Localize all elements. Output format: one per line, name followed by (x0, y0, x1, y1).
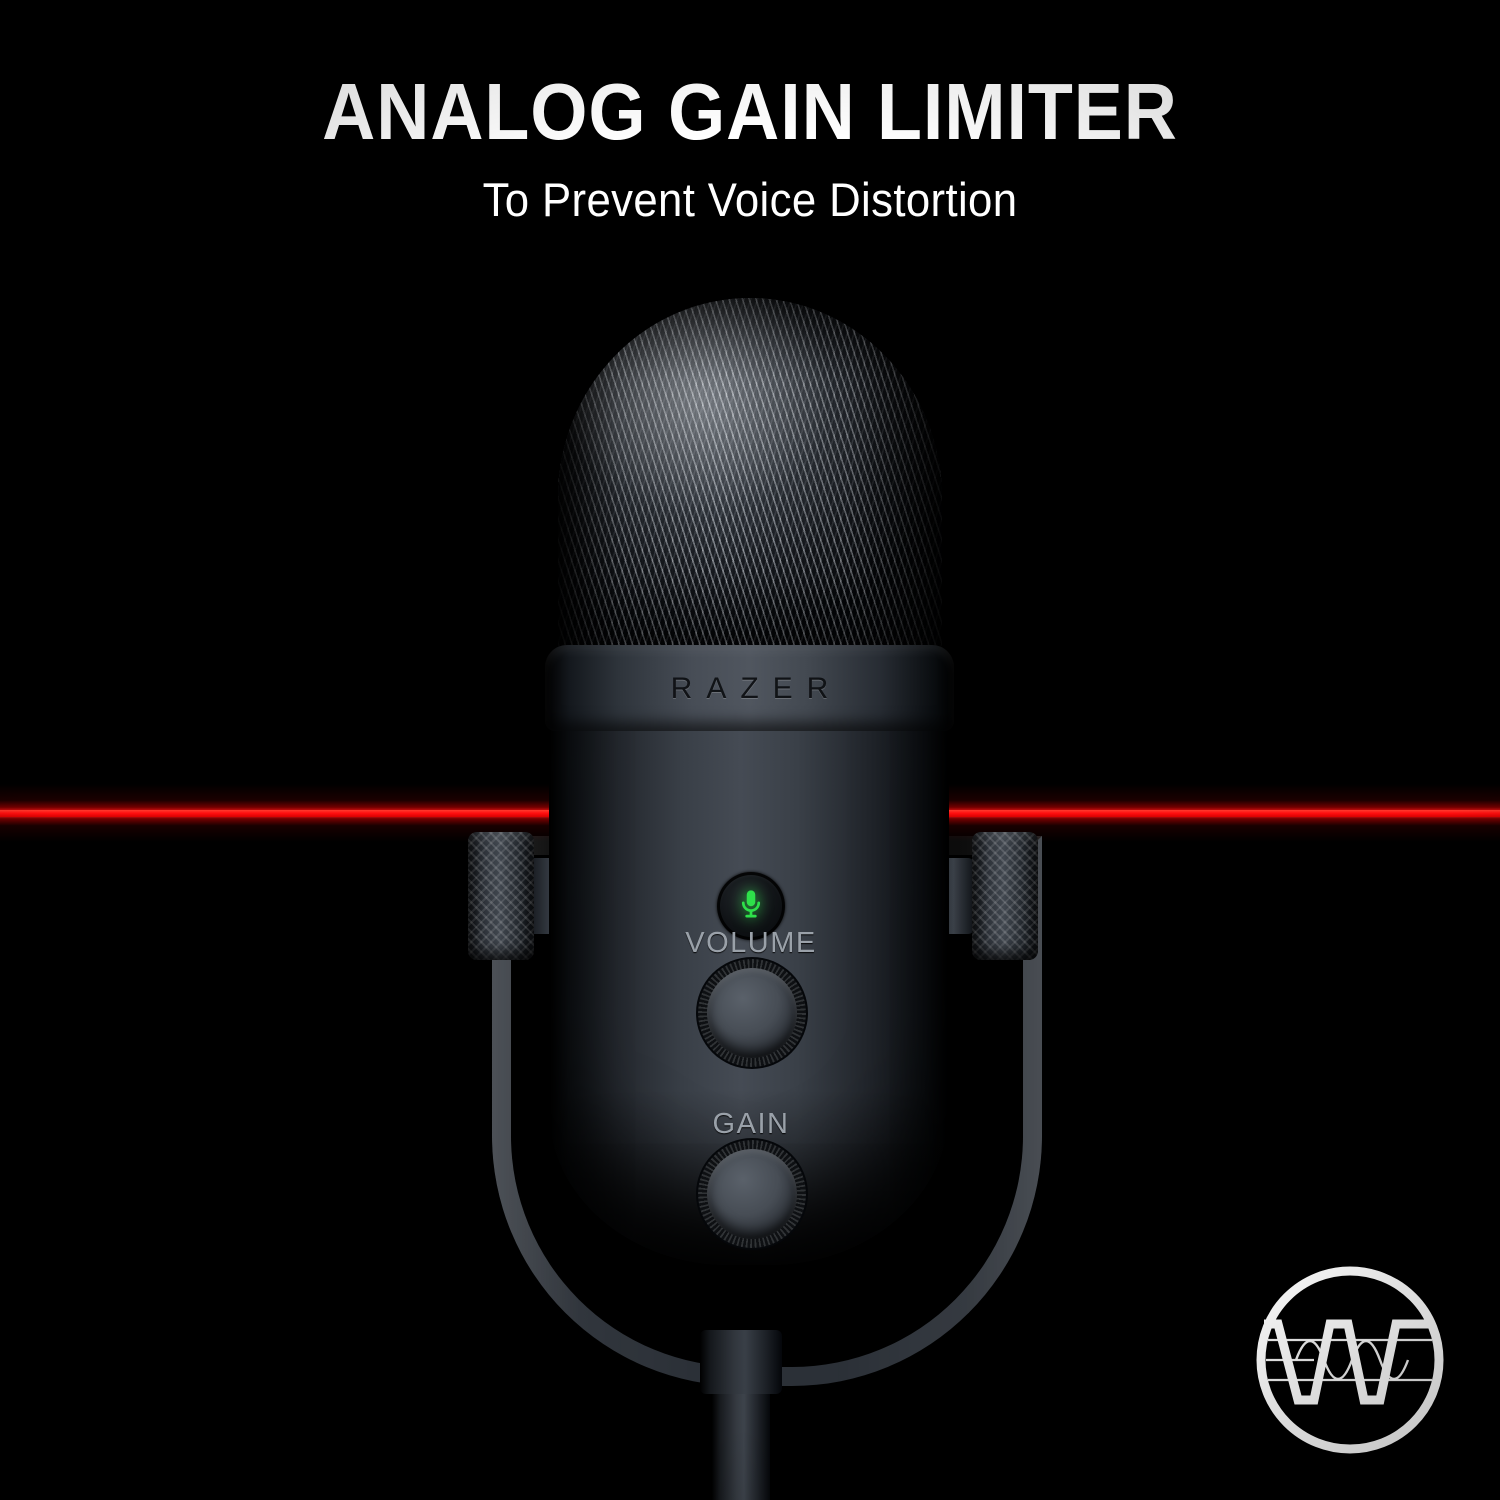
clipped-waveform-icon (1252, 1262, 1448, 1458)
volume-knob[interactable] (707, 968, 797, 1058)
microphone-icon (734, 887, 768, 926)
product-feature-banner: ANALOG GAIN LIMITER To Prevent Voice Dis… (0, 0, 1500, 1500)
left-tension-knob[interactable] (468, 832, 534, 960)
wire-mesh-grille (558, 298, 942, 666)
right-tension-knob[interactable] (972, 832, 1038, 960)
waveform-limiter-badge (1252, 1262, 1448, 1458)
stand-post (712, 1380, 770, 1500)
brand-wordmark: RAZER (545, 672, 954, 706)
grille-shading (558, 298, 942, 666)
gain-knob-label: GAIN (551, 1108, 951, 1141)
stand-neck (700, 1330, 782, 1394)
gain-knob[interactable] (707, 1149, 797, 1239)
volume-knob-label: VOLUME (551, 927, 951, 960)
